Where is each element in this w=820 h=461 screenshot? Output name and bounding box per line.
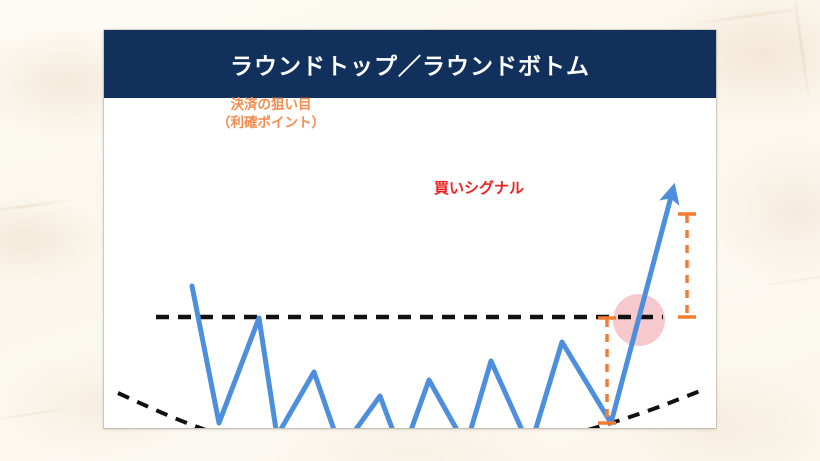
buy-signal-label: 買いシグナル [434,178,524,198]
chart-area: 決済の狙い目 （利確ポイント） 買いシグナル [104,98,716,428]
profit-target-label-line1: 決済の狙い目 [161,96,381,114]
card-header: ラウンドトップ／ラウンドボトム [104,30,716,98]
measure-profit-target [678,214,696,317]
profit-target-label-line2: （利確ポイント） [161,114,381,132]
price-zigzag-line [192,193,672,428]
chart-card: ラウンドトップ／ラウンドボトム [104,30,716,428]
profit-target-label: 決済の狙い目 （利確ポイント） [161,96,381,132]
page-title: ラウンドトップ／ラウンドボトム [230,47,590,81]
round-bottom-chart [104,98,716,428]
page-root: ラウンドトップ／ラウンドボトム [0,0,820,461]
